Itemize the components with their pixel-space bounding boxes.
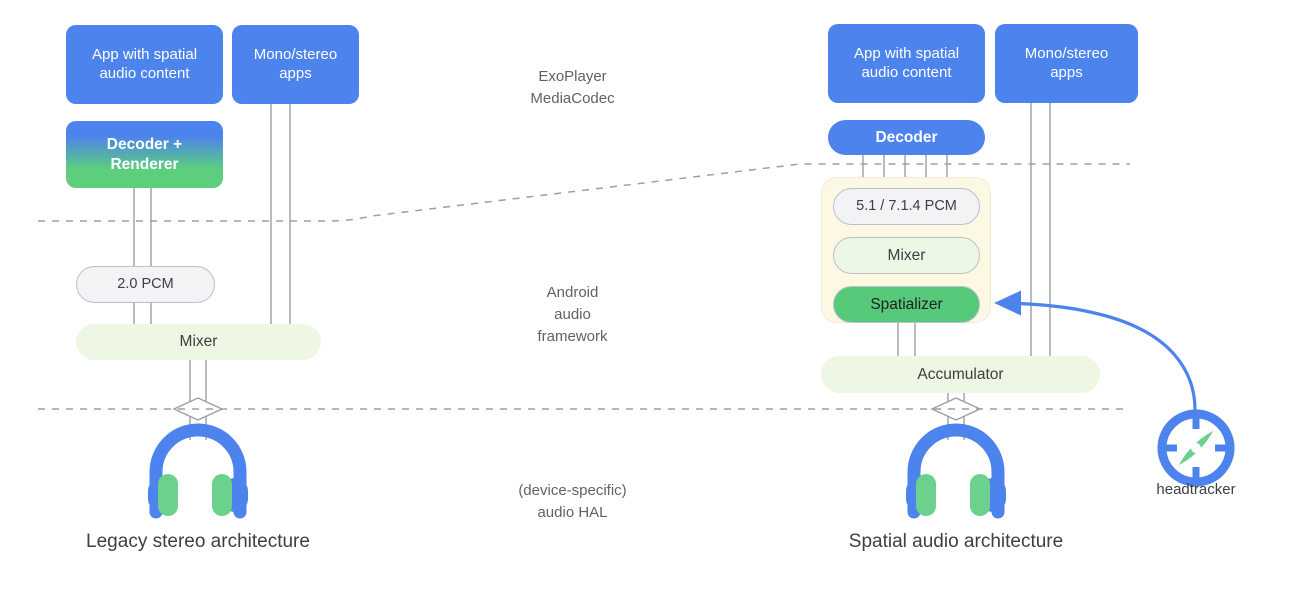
spatializer-box[interactable]: Spatializer	[833, 286, 980, 323]
left-mixer-box[interactable]: Mixer	[76, 324, 321, 360]
left-pcm-box[interactable]: 2.0 PCM	[76, 266, 215, 303]
headtracker-label: headtracker	[1126, 481, 1266, 498]
headphones-icon-left	[148, 430, 248, 516]
right-app-spatial-box[interactable]: App with spatial audio content	[828, 24, 985, 103]
caption-device-specific-audio-hal: (device-specific) audio HAL	[465, 480, 680, 524]
caption-android-audio-framework: Android audio framework	[465, 282, 680, 347]
right-architecture-label: Spatial audio architecture	[796, 531, 1116, 553]
diagram-canvas: App with spatial audio content Mono/ster…	[0, 0, 1300, 594]
right-decoder-box[interactable]: Decoder	[828, 120, 985, 155]
left-mono-stereo-box[interactable]: Mono/stereo apps	[232, 25, 359, 104]
left-app-spatial-box[interactable]: App with spatial audio content	[66, 25, 223, 104]
accumulator-box[interactable]: Accumulator	[821, 356, 1100, 393]
caption-exoplayer-mediacodec: ExoPlayer MediaCodec	[465, 66, 680, 110]
compass-icon	[1162, 414, 1230, 482]
headphones-icon-right	[906, 430, 1006, 516]
right-pcm-box[interactable]: 5.1 / 7.1.4 PCM	[833, 188, 980, 225]
left-decoder-renderer-box[interactable]: Decoder + Renderer	[66, 121, 223, 188]
right-mixer-box[interactable]: Mixer	[833, 237, 980, 274]
right-mono-stereo-box[interactable]: Mono/stereo apps	[995, 24, 1138, 103]
left-architecture-label: Legacy stereo architecture	[38, 531, 358, 553]
